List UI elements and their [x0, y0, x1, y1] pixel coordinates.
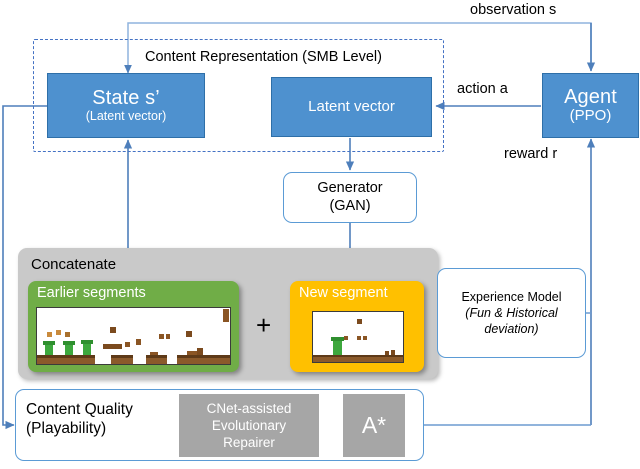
latent-vector-node[interactable]: Latent vector: [271, 77, 432, 137]
observation-label: observation s: [470, 2, 556, 18]
generator-node[interactable]: Generator (GAN): [283, 172, 417, 223]
repairer-line3: Repairer: [223, 434, 275, 451]
experience-model-line2: (Fun & Historical: [465, 305, 557, 321]
action-label: action a: [457, 81, 508, 97]
agent-subtitle: (PPO): [570, 108, 612, 124]
state-node[interactable]: State s’ (Latent vector): [47, 73, 205, 138]
experience-model-node[interactable]: Experience Model (Fun & Historical devia…: [437, 268, 586, 358]
observation-text: observation s: [470, 2, 556, 18]
experience-model-line1: Experience Model: [461, 289, 561, 305]
agent-node[interactable]: Agent (PPO): [542, 73, 639, 138]
plus-operator: +: [256, 310, 271, 341]
state-title: State s’: [92, 88, 160, 108]
reward-text: reward r: [504, 146, 557, 162]
state-subtitle: (Latent vector): [86, 109, 167, 123]
astar-box[interactable]: A*: [343, 394, 405, 457]
concatenate-label: Concatenate: [31, 256, 116, 273]
agent-title: Agent: [564, 87, 617, 107]
experience-model-line3: deviation): [484, 321, 538, 337]
earlier-segments-title: Earlier segments: [37, 285, 146, 301]
content-representation-label: Content Representation (SMB Level): [145, 49, 382, 65]
action-text: action a: [457, 81, 508, 97]
generator-line2: (GAN): [329, 198, 370, 216]
earlier-segments-card[interactable]: Earlier segments: [28, 281, 239, 372]
diagram-canvas: Content Representation (SMB Level) State…: [0, 0, 640, 469]
astar-label: A*: [362, 411, 386, 440]
repairer-line1: CNet-assisted: [207, 400, 292, 417]
content-quality-label: Content Quality (Playability): [26, 400, 133, 439]
content-quality-line2: (Playability): [26, 419, 133, 438]
earlier-segments-level-image: [36, 307, 231, 365]
latent-vector-title: Latent vector: [308, 99, 395, 115]
content-quality-line1: Content Quality: [26, 400, 133, 419]
new-segment-title: New segment: [299, 285, 388, 301]
reward-label: reward r: [504, 146, 557, 162]
repairer-line2: Evolutionary: [212, 417, 286, 434]
generator-line1: Generator: [317, 180, 382, 198]
repairer-box[interactable]: CNet-assisted Evolutionary Repairer: [179, 394, 319, 457]
new-segment-card[interactable]: New segment: [290, 281, 424, 372]
new-segment-level-image: [312, 311, 404, 363]
